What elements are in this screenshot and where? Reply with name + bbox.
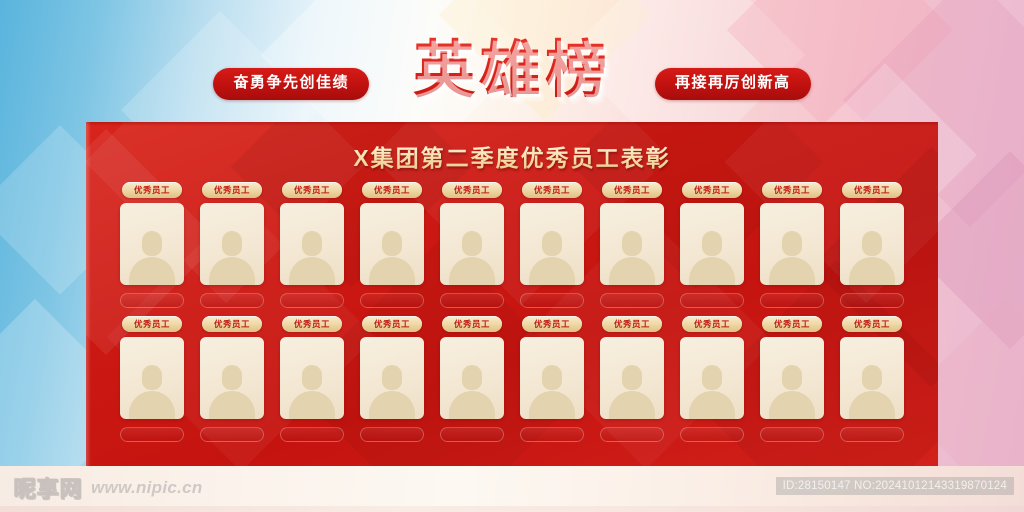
employee-nameplate [840,427,904,442]
avatar-icon [449,361,495,419]
honor-board-panel: X集团第二季度优秀员工表彰 优秀员工 优秀员工 [86,122,938,466]
employee-row-2: 优秀员工 优秀员工 优秀员工 [117,316,907,442]
poster-canvas: 奋勇争先创佳绩 英雄榜 再接再厉创新高 X集团第二季度优秀员工表彰 优秀员工 [0,0,1024,512]
status-badge: 优秀员工 [762,182,822,198]
employee-nameplate [440,293,504,308]
employee-nameplate [360,427,424,442]
status-badge: 优秀员工 [842,182,902,198]
employee-photo[interactable] [360,337,424,419]
status-badge: 优秀员工 [282,316,342,332]
employee-nameplate [760,427,824,442]
employee-photo[interactable] [360,203,424,285]
employee-nameplate [680,427,744,442]
employee-nameplate [600,293,664,308]
employee-card[interactable]: 优秀员工 [517,182,587,308]
employee-card[interactable]: 优秀员工 [437,316,507,442]
employee-card[interactable]: 优秀员工 [357,316,427,442]
employee-photo[interactable] [760,203,824,285]
status-badge: 优秀员工 [442,316,502,332]
employee-nameplate [840,293,904,308]
panel-title: X集团第二季度优秀员工表彰 [86,139,938,173]
employee-nameplate [280,293,344,308]
employee-card[interactable]: 优秀员工 [597,316,667,442]
employee-photo[interactable] [120,203,184,285]
avatar-icon [209,361,255,419]
avatar-icon [129,361,175,419]
employee-nameplate [760,293,824,308]
watermark-url-text: www.nipic.cn [91,478,203,498]
avatar-icon [129,227,175,285]
employee-photo[interactable] [520,203,584,285]
employee-card[interactable]: 优秀员工 [677,316,747,442]
employee-card[interactable]: 优秀员工 [837,316,907,442]
employee-photo[interactable] [760,337,824,419]
employee-photo[interactable] [200,203,264,285]
employee-card[interactable]: 优秀员工 [597,182,667,308]
employee-photo[interactable] [680,337,744,419]
status-badge: 优秀员工 [682,316,742,332]
status-badge: 优秀员工 [362,182,422,198]
employee-photo[interactable] [840,337,904,419]
status-badge: 优秀员工 [442,182,502,198]
watermark-brand-text: 昵享网 [14,472,83,504]
avatar-icon [849,361,895,419]
employee-nameplate [440,427,504,442]
employee-photo[interactable] [280,203,344,285]
employee-photo[interactable] [200,337,264,419]
employee-card[interactable]: 优秀员工 [277,182,347,308]
employee-nameplate [600,427,664,442]
employee-photo[interactable] [600,203,664,285]
employee-row-1: 优秀员工 优秀员工 优秀员工 [117,182,907,308]
avatar-icon [529,227,575,285]
employee-card[interactable]: 优秀员工 [517,316,587,442]
employee-nameplate [280,427,344,442]
employee-card[interactable]: 优秀员工 [757,182,827,308]
employee-card[interactable]: 优秀员工 [357,182,427,308]
employee-nameplate [200,293,264,308]
avatar-icon [689,361,735,419]
employee-nameplate [200,427,264,442]
employee-card[interactable]: 优秀员工 [197,316,267,442]
asset-id-label: ID:28150147 NO:20241012143319870124 [776,477,1014,495]
employee-nameplate [520,427,584,442]
employee-photo[interactable] [440,337,504,419]
avatar-icon [209,227,255,285]
status-badge: 优秀员工 [602,182,662,198]
footer-bottom-line [0,506,1024,512]
status-badge: 优秀员工 [602,316,662,332]
employee-photo[interactable] [120,337,184,419]
employee-photo[interactable] [840,203,904,285]
panel-top-edge [86,122,938,126]
avatar-icon [449,227,495,285]
employee-photo[interactable] [440,203,504,285]
avatar-icon [289,227,335,285]
employee-card[interactable]: 优秀员工 [117,182,187,308]
avatar-icon [289,361,335,419]
status-badge: 优秀员工 [122,316,182,332]
employee-nameplate [520,293,584,308]
avatar-icon [609,361,655,419]
avatar-icon [689,227,735,285]
panel-left-edge [86,122,91,466]
employee-card[interactable]: 优秀员工 [677,182,747,308]
employee-nameplate [120,293,184,308]
status-badge: 优秀员工 [682,182,742,198]
status-badge: 优秀员工 [522,316,582,332]
avatar-icon [609,227,655,285]
status-badge: 优秀员工 [282,182,342,198]
avatar-icon [369,227,415,285]
employee-nameplate [360,293,424,308]
status-badge: 优秀员工 [842,316,902,332]
poster-header: 奋勇争先创佳绩 英雄榜 再接再厉创新高 [0,38,1024,110]
employee-card[interactable]: 优秀员工 [117,316,187,442]
page-title: 英雄榜 [411,36,613,112]
watermark-logo: 昵享网 www.nipic.cn [14,472,203,504]
status-badge: 优秀员工 [202,182,262,198]
avatar-icon [529,361,575,419]
employee-nameplate [120,427,184,442]
employee-card[interactable]: 优秀员工 [197,182,267,308]
status-badge: 优秀员工 [202,316,262,332]
avatar-icon [849,227,895,285]
slogan-right: 再接再厉创新高 [655,68,811,101]
employee-card[interactable]: 优秀员工 [837,182,907,308]
avatar-icon [769,361,815,419]
status-badge: 优秀员工 [362,316,422,332]
avatar-icon [369,361,415,419]
employee-card[interactable]: 优秀员工 [757,316,827,442]
employee-photo[interactable] [520,337,584,419]
employee-nameplate [680,293,744,308]
employee-photo[interactable] [280,337,344,419]
employee-photo[interactable] [680,203,744,285]
employee-photo[interactable] [600,337,664,419]
slogan-left: 奋勇争先创佳绩 [213,68,369,101]
employee-card[interactable]: 优秀员工 [437,182,507,308]
employee-card[interactable]: 优秀员工 [277,316,347,442]
status-badge: 优秀员工 [522,182,582,198]
avatar-icon [769,227,815,285]
status-badge: 优秀员工 [762,316,822,332]
status-badge: 优秀员工 [122,182,182,198]
